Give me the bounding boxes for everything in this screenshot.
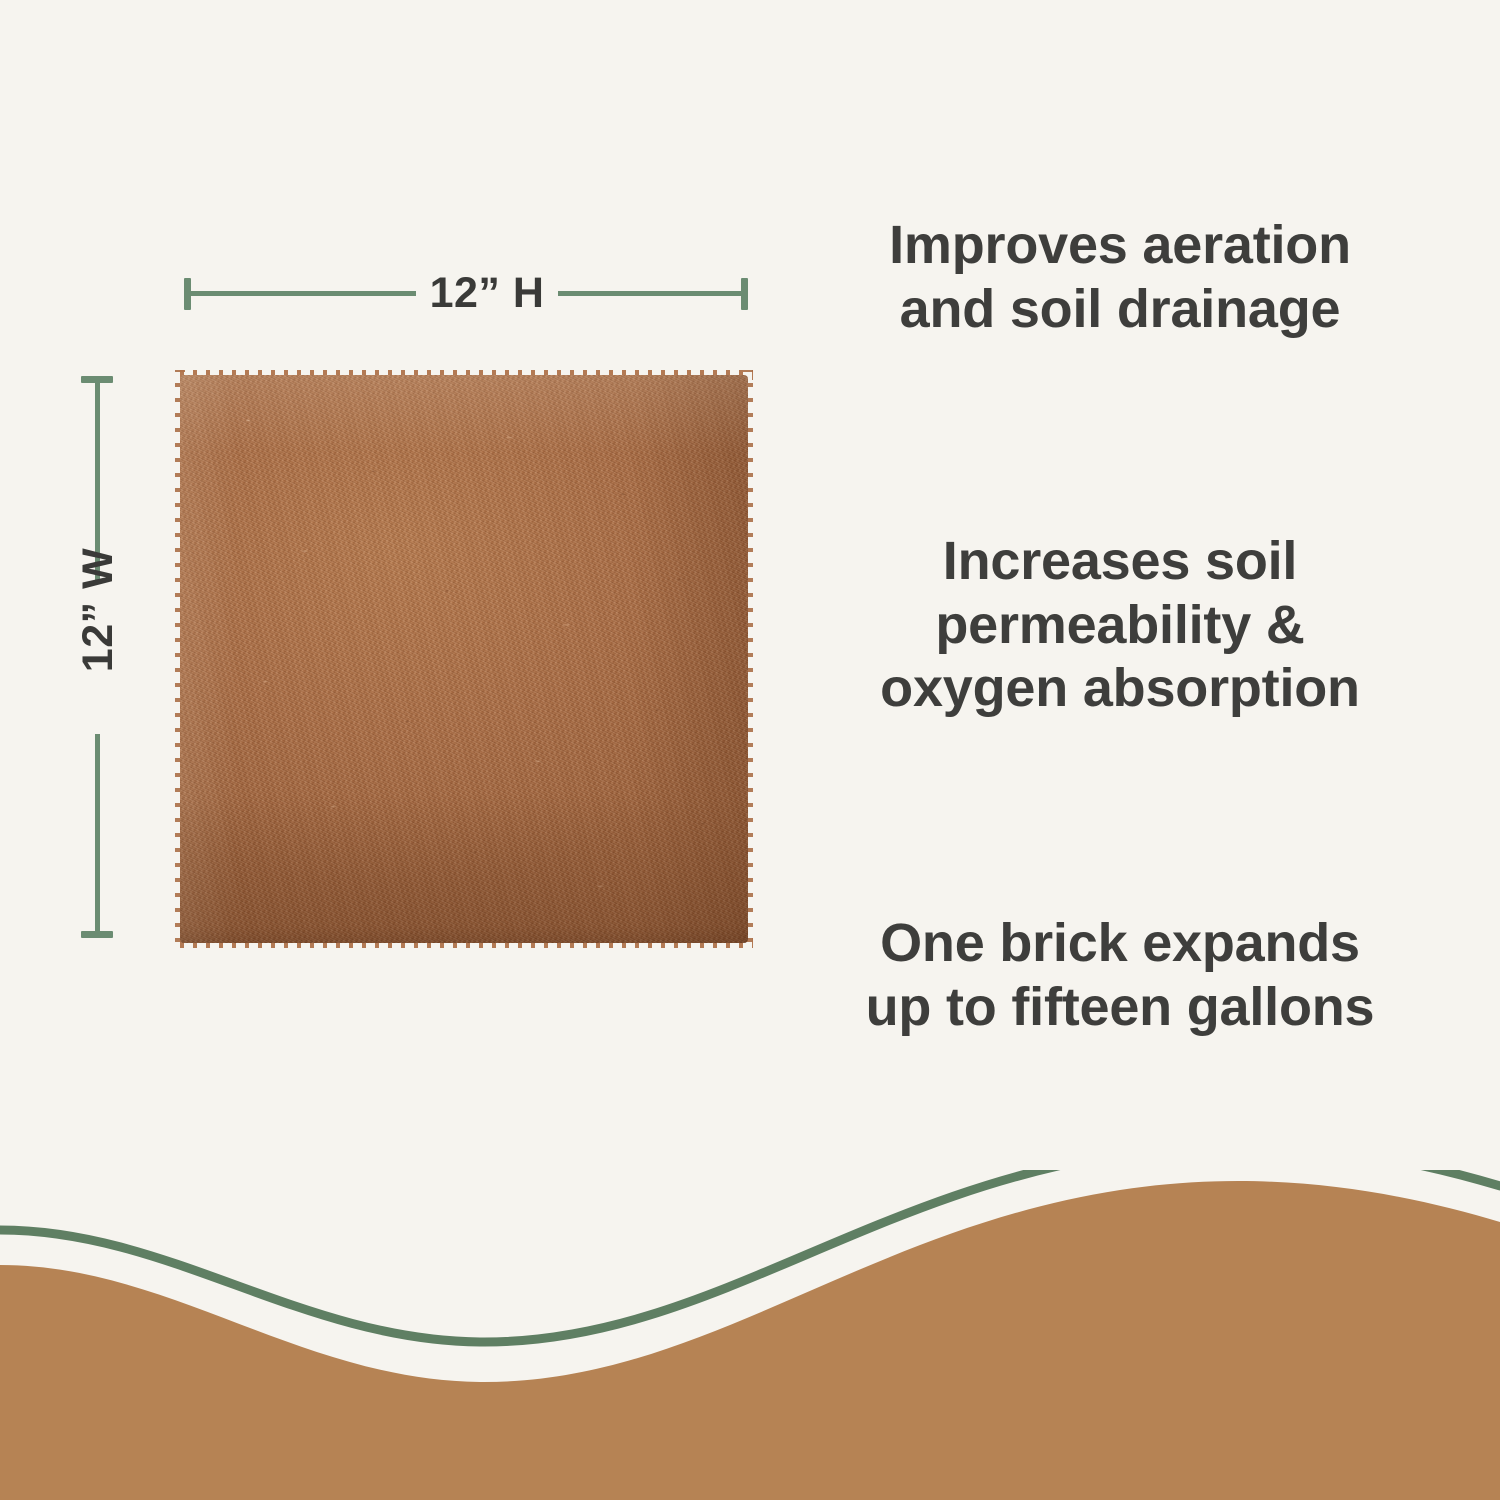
- dimension-line-vertical: 12” W: [66, 374, 128, 940]
- claim-line: permeability &: [790, 594, 1450, 658]
- dimension-cap-bottom-icon: [81, 931, 113, 938]
- dimension-rule-right: [558, 291, 744, 296]
- dimension-line-horizontal: 12” H: [180, 262, 752, 324]
- claim-line: and soil drainage: [790, 278, 1450, 342]
- claim-aeration: Improves aeration and soil drainage: [790, 214, 1450, 341]
- claim-line: up to fifteen gallons: [790, 976, 1450, 1040]
- dimension-rule-bottom: [95, 734, 100, 934]
- claim-permeability: Increases soil permeability & oxygen abs…: [790, 530, 1450, 721]
- dimension-label-height: 12” H: [412, 262, 562, 324]
- claim-line: oxygen absorption: [790, 657, 1450, 721]
- claim-line: One brick expands: [790, 912, 1450, 976]
- coir-brick-image: [180, 375, 748, 943]
- dimension-rule-left: [189, 291, 416, 296]
- decorative-wave-band: [0, 1170, 1500, 1500]
- benefit-claims-list: Improves aeration and soil drainage Incr…: [790, 0, 1450, 1180]
- infographic-canvas: 12” H 12” W Improves aeration and soil d…: [0, 0, 1500, 1500]
- brick-shading-overlay: [180, 375, 748, 943]
- product-dimension-panel: 12” H 12” W: [0, 0, 800, 1180]
- dimension-label-width: 12” W: [67, 535, 129, 685]
- claim-expansion: One brick expands up to fifteen gallons: [790, 912, 1450, 1039]
- claim-line: Improves aeration: [790, 214, 1450, 278]
- wave-graphic: [0, 1170, 1500, 1500]
- dimension-cap-right-icon: [741, 278, 748, 310]
- claim-line: Increases soil: [790, 530, 1450, 594]
- wave-fill-shape: [0, 1181, 1500, 1500]
